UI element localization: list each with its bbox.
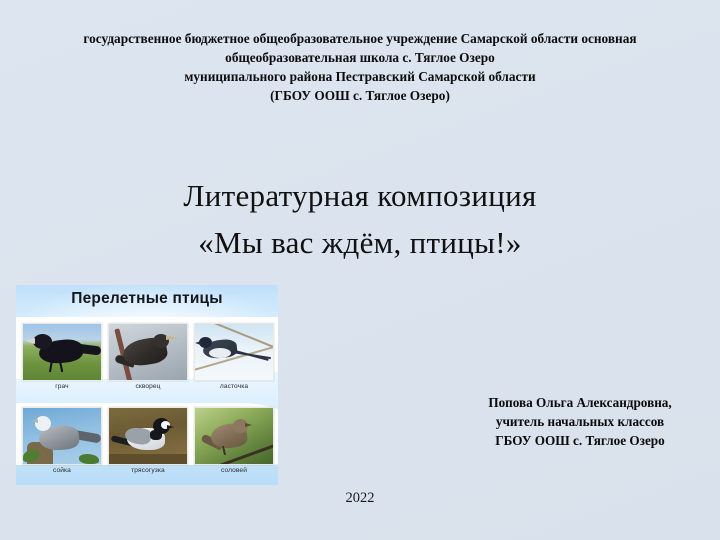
bird-cell-nightingale: соловей — [194, 407, 274, 485]
organization-line-3: муниципального района Пестравский Самарс… — [60, 68, 660, 87]
year-label: 2022 — [310, 490, 410, 507]
organization-line-2: общеобразовательная школа с. Тяглое Озер… — [60, 49, 660, 68]
presentation-slide: государственное бюджетное общеобразовате… — [0, 0, 720, 540]
author-role: учитель начальных классов — [455, 412, 705, 431]
title-line-2: «Мы вас ждём, птицы!» — [40, 219, 680, 266]
starling-photo — [108, 323, 188, 381]
bird-cell-wagtail: трясогузка — [108, 407, 188, 485]
swallow-photo — [194, 323, 274, 381]
author-credit: Попова Ольга Александровна, учитель нача… — [455, 393, 705, 450]
organization-line-4: (ГБОУ ООШ с. Тяглое Озеро) — [60, 87, 660, 106]
organization-line-1: государственное бюджетное общеобразовате… — [60, 30, 660, 49]
wagtail-photo — [108, 407, 188, 465]
bird-caption: ласточка — [194, 383, 274, 390]
bird-caption: сойка — [22, 467, 102, 474]
poster-title: Перелетные птицы — [16, 290, 278, 308]
title-line-1: Литературная композиция — [40, 172, 680, 219]
page-title: Литературная композиция «Мы вас ждём, пт… — [40, 172, 680, 266]
bird-caption: трясогузка — [108, 467, 188, 474]
bird-cell-starling: скворец — [108, 323, 188, 403]
jay-photo — [22, 407, 102, 465]
poster-row-bottom: сойка трясогузка соловей — [22, 407, 274, 485]
author-name: Попова Ольга Александровна, — [455, 393, 705, 412]
organization-header: государственное бюджетное общеобразовате… — [60, 30, 660, 106]
bird-caption: соловей — [194, 467, 274, 474]
poster-row-top: грач скворец ласточка — [22, 323, 274, 403]
rook-photo — [22, 323, 102, 381]
bird-cell-swallow: ласточка — [194, 323, 274, 403]
bird-cell-rook: грач — [22, 323, 102, 403]
migratory-birds-poster: Перелетные птицы грач скворец — [16, 285, 278, 485]
author-school: ГБОУ ООШ с. Тяглое Озеро — [455, 431, 705, 450]
bird-cell-jay: сойка — [22, 407, 102, 485]
bird-caption: грач — [22, 383, 102, 390]
nightingale-photo — [194, 407, 274, 465]
bird-caption: скворец — [108, 383, 188, 390]
